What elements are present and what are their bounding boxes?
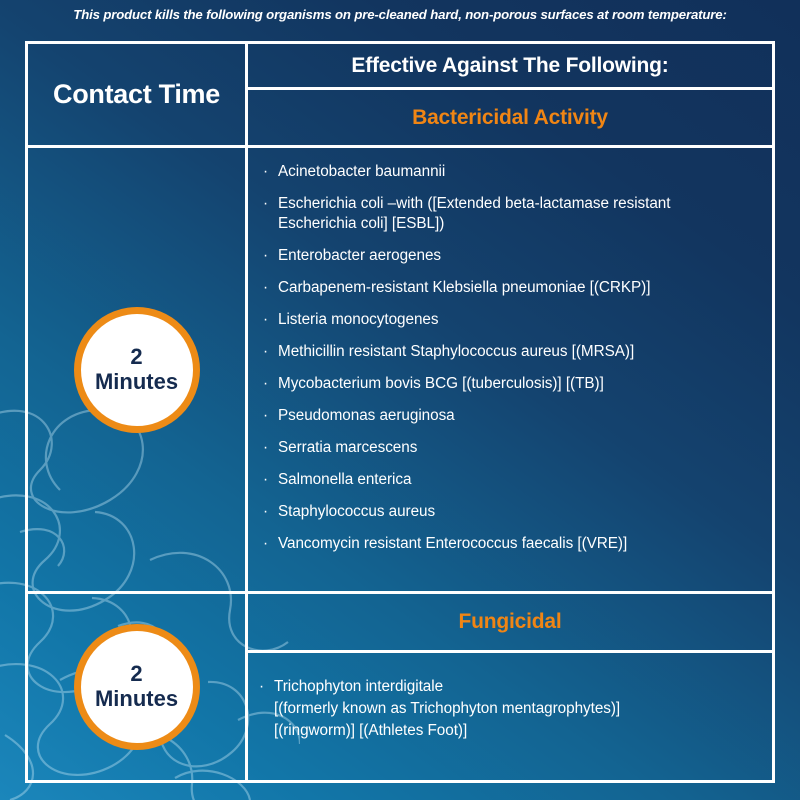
bullet-icon: ·	[263, 534, 268, 554]
bullet-icon: ·	[263, 246, 268, 266]
organism-list-item: ·Mycobacterium bovis BCG [(tuberculosis)…	[262, 374, 772, 394]
organism-name: Enterobacter aerogenes	[278, 247, 441, 264]
organism-list-item: ·Enterobacter aerogenes	[262, 246, 772, 266]
organism-list-item: ·Salmonella enterica	[262, 470, 772, 490]
bullet-icon: ·	[263, 502, 268, 522]
fungicidal-organism-list: ·Trichophyton interdigitale[(formerly kn…	[258, 676, 772, 743]
organism-list-item: ·Escherichia coli –with ([Extended beta-…	[262, 194, 772, 233]
contact-time-badge-fungicidal: 2 Minutes	[74, 624, 200, 750]
organism-list-item: ·Listeria monocytogenes	[262, 310, 772, 330]
organism-name: Staphylococcus aureus	[278, 503, 435, 520]
organism-list-item: ·Carbapenem-resistant Klebsiella pneumon…	[262, 278, 772, 298]
organism-name: Pseudomonas aeruginosa	[278, 407, 455, 424]
contact-time-cell-bactericidal: 2 Minutes	[28, 148, 245, 591]
organism-name: Methicillin resistant Staphylococcus aur…	[278, 343, 634, 360]
efficacy-table: Contact Time Effective Against The Follo…	[25, 41, 775, 783]
organism-name: Serratia marcescens	[278, 439, 417, 456]
organism-list-item: ·Acinetobacter baumannii	[262, 162, 772, 182]
contact-time-value: 2	[130, 345, 142, 370]
bullet-icon: ·	[263, 374, 268, 394]
bullet-icon: ·	[263, 438, 268, 458]
contact-time-value: 2	[130, 662, 142, 687]
contact-time-badge-bactericidal: 2 Minutes	[74, 307, 200, 433]
page-caption: This product kills the following organis…	[0, 7, 800, 22]
organism-list-item: ·Vancomycin resistant Enterococcus faeca…	[262, 534, 772, 554]
fungicidal-section-title: Fungicidal	[458, 610, 561, 634]
bactericidal-section-header-cell: Bactericidal Activity	[248, 90, 772, 145]
organism-name: Vancomycin resistant Enterococcus faecal…	[278, 535, 627, 552]
effective-against-header-cell: Effective Against The Following:	[248, 44, 772, 87]
contact-time-unit: Minutes	[95, 687, 178, 712]
bullet-icon: ·	[259, 676, 264, 698]
bullet-icon: ·	[263, 194, 268, 214]
organism-name: Carbapenem-resistant Klebsiella pneumoni…	[278, 279, 650, 296]
effective-against-header-label: Effective Against The Following:	[351, 54, 668, 78]
bactericidal-organism-list-cell: ·Acinetobacter baumannii·Escherichia col…	[248, 148, 772, 591]
fungicidal-organism-list-cell: ·Trichophyton interdigitale[(formerly kn…	[248, 653, 772, 780]
organism-name-continuation: Escherichia coli] [ESBL])	[278, 214, 772, 234]
bullet-icon: ·	[263, 470, 268, 490]
organism-name: Salmonella enterica	[278, 471, 411, 488]
organism-name: Listeria monocytogenes	[278, 311, 438, 328]
organism-name: Mycobacterium bovis BCG [(tuberculosis)]…	[278, 375, 604, 392]
organism-name-continuation: [(formerly known as Trichophyton mentagr…	[274, 698, 772, 720]
fungicidal-section-header-cell: Fungicidal	[248, 594, 772, 650]
organism-name-continuation: [(ringworm)] [(Athletes Foot)]	[274, 720, 772, 742]
bullet-icon: ·	[263, 406, 268, 426]
bullet-icon: ·	[263, 310, 268, 330]
organism-list-item: ·Serratia marcescens	[262, 438, 772, 458]
contact-time-header-label: Contact Time	[53, 79, 220, 110]
organism-list-item: ·Staphylococcus aureus	[262, 502, 772, 522]
contact-time-header-cell: Contact Time	[28, 44, 245, 145]
contact-time-unit: Minutes	[95, 370, 178, 395]
organism-list-item: ·Methicillin resistant Staphylococcus au…	[262, 342, 772, 362]
organism-name: Acinetobacter baumannii	[278, 163, 445, 180]
bactericidal-section-title: Bactericidal Activity	[412, 106, 608, 130]
bullet-icon: ·	[263, 342, 268, 362]
contact-time-cell-fungicidal: 2 Minutes	[28, 594, 245, 780]
organism-list-item: ·Trichophyton interdigitale[(formerly kn…	[258, 676, 772, 743]
organism-list-item: ·Pseudomonas aeruginosa	[262, 406, 772, 426]
bullet-icon: ·	[263, 162, 268, 182]
bactericidal-organism-list: ·Acinetobacter baumannii·Escherichia col…	[262, 162, 772, 554]
organism-name: Trichophyton interdigitale	[274, 678, 443, 695]
bullet-icon: ·	[263, 278, 268, 298]
organism-name: Escherichia coli –with ([Extended beta-l…	[278, 195, 670, 212]
